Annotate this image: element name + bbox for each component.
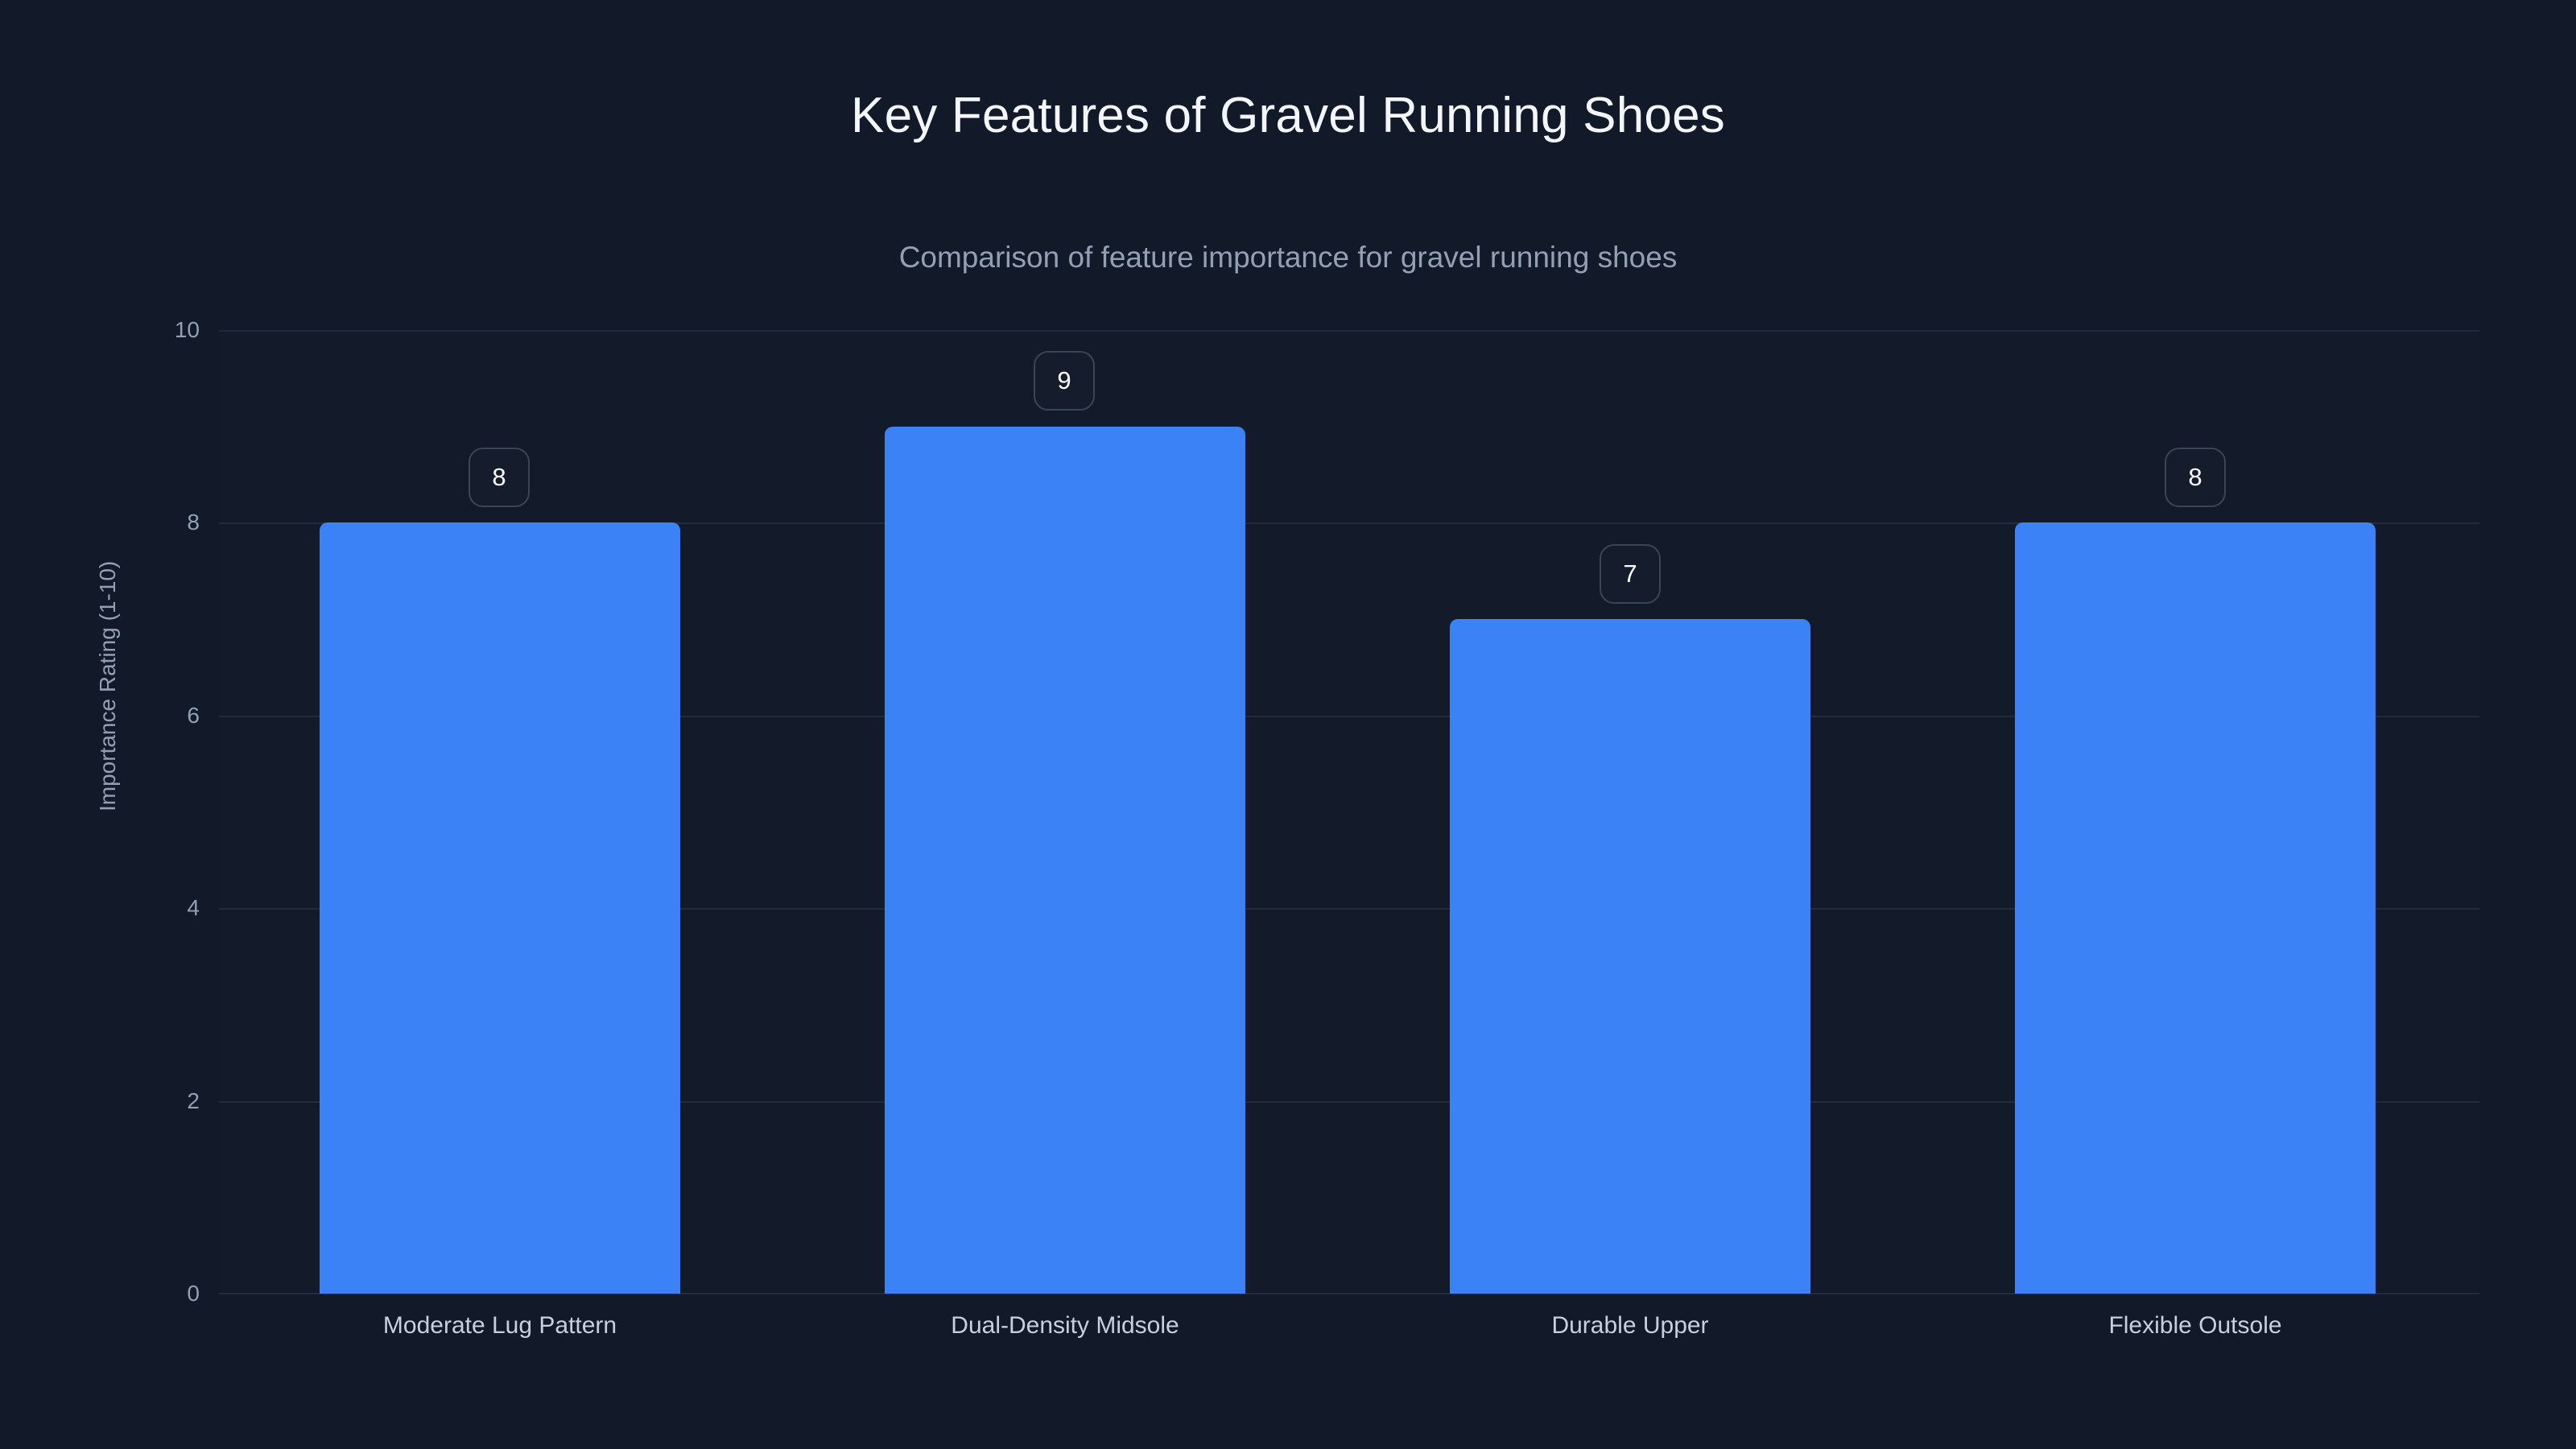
x-label-moderate-lug-pattern: Moderate Lug Pattern bbox=[383, 1312, 617, 1340]
y-tick-label-0: 0 bbox=[0, 1281, 200, 1307]
bar-flexible-outsole[interactable] bbox=[2015, 522, 2376, 1294]
value-badge-flexible-outsole: 8 bbox=[2165, 448, 2226, 507]
chart-title: Key Features of Gravel Running Shoes bbox=[0, 89, 2576, 143]
bar-durable-upper[interactable] bbox=[1450, 619, 1810, 1294]
y-tick-label-8: 8 bbox=[0, 510, 200, 535]
x-axis-labels: Moderate Lug Pattern Dual-Density Midsol… bbox=[219, 1312, 2479, 1360]
bars-layer bbox=[219, 330, 2479, 1294]
x-label-dual-density-midsole: Dual-Density Midsole bbox=[951, 1312, 1179, 1340]
x-label-durable-upper: Durable Upper bbox=[1551, 1312, 1708, 1340]
y-axis-title: Importance Rating (1-10) bbox=[95, 561, 121, 811]
value-badge-moderate-lug-pattern: 8 bbox=[469, 448, 530, 507]
x-label-flexible-outsole: Flexible Outsole bbox=[2108, 1312, 2281, 1340]
value-badge-dual-density-midsole: 9 bbox=[1034, 351, 1095, 411]
bar-moderate-lug-pattern[interactable] bbox=[320, 522, 680, 1294]
value-badge-durable-upper: 7 bbox=[1600, 544, 1661, 604]
y-tick-label-2: 2 bbox=[0, 1088, 200, 1114]
bar-dual-density-midsole[interactable] bbox=[885, 427, 1245, 1294]
chart-canvas: Key Features of Gravel Running Shoes Com… bbox=[0, 0, 2576, 1449]
chart-subtitle: Comparison of feature importance for gra… bbox=[0, 242, 2576, 275]
y-tick-label-10: 10 bbox=[0, 317, 200, 343]
y-tick-label-4: 4 bbox=[0, 895, 200, 921]
